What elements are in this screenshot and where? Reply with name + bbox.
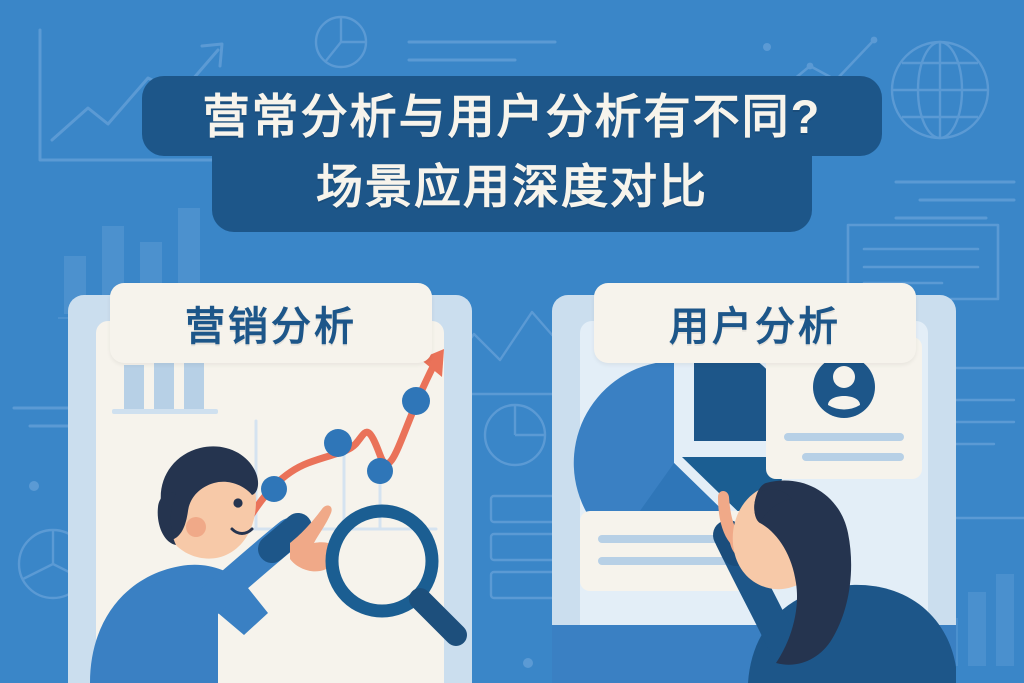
- document-lines-icon: [405, 28, 565, 78]
- card-header-user-label: 用户分析: [669, 294, 841, 352]
- poster-canvas: 营常分析与用户分析有不同? 场景应用深度对比: [0, 0, 1024, 683]
- card-header-marketing[interactable]: 营销分析: [110, 283, 432, 363]
- pie-chart-icon: [313, 14, 369, 70]
- trend-line-chart: [250, 349, 444, 517]
- title-line-1-text: 营常分析与用户分析有不同?: [203, 90, 822, 144]
- pie-chart-icon: [480, 400, 550, 470]
- avatar: [813, 356, 875, 418]
- title-banner: 营常分析与用户分析有不同? 场景应用深度对比: [0, 76, 1024, 232]
- circle-dot-icon: [760, 40, 774, 54]
- circle-dot-icon: [520, 655, 536, 671]
- title-line-2: 场景应用深度对比: [212, 154, 812, 232]
- card-header-marketing-label: 营销分析: [185, 294, 357, 352]
- male-analyst-figure: [90, 446, 337, 683]
- title-line-2-text: 场景应用深度对比: [316, 160, 708, 214]
- magnifier-icon: [316, 495, 472, 655]
- circle-dot-icon: [26, 478, 42, 494]
- title-line-1: 营常分析与用户分析有不同?: [142, 76, 882, 156]
- card-header-user[interactable]: 用户分析: [594, 283, 916, 363]
